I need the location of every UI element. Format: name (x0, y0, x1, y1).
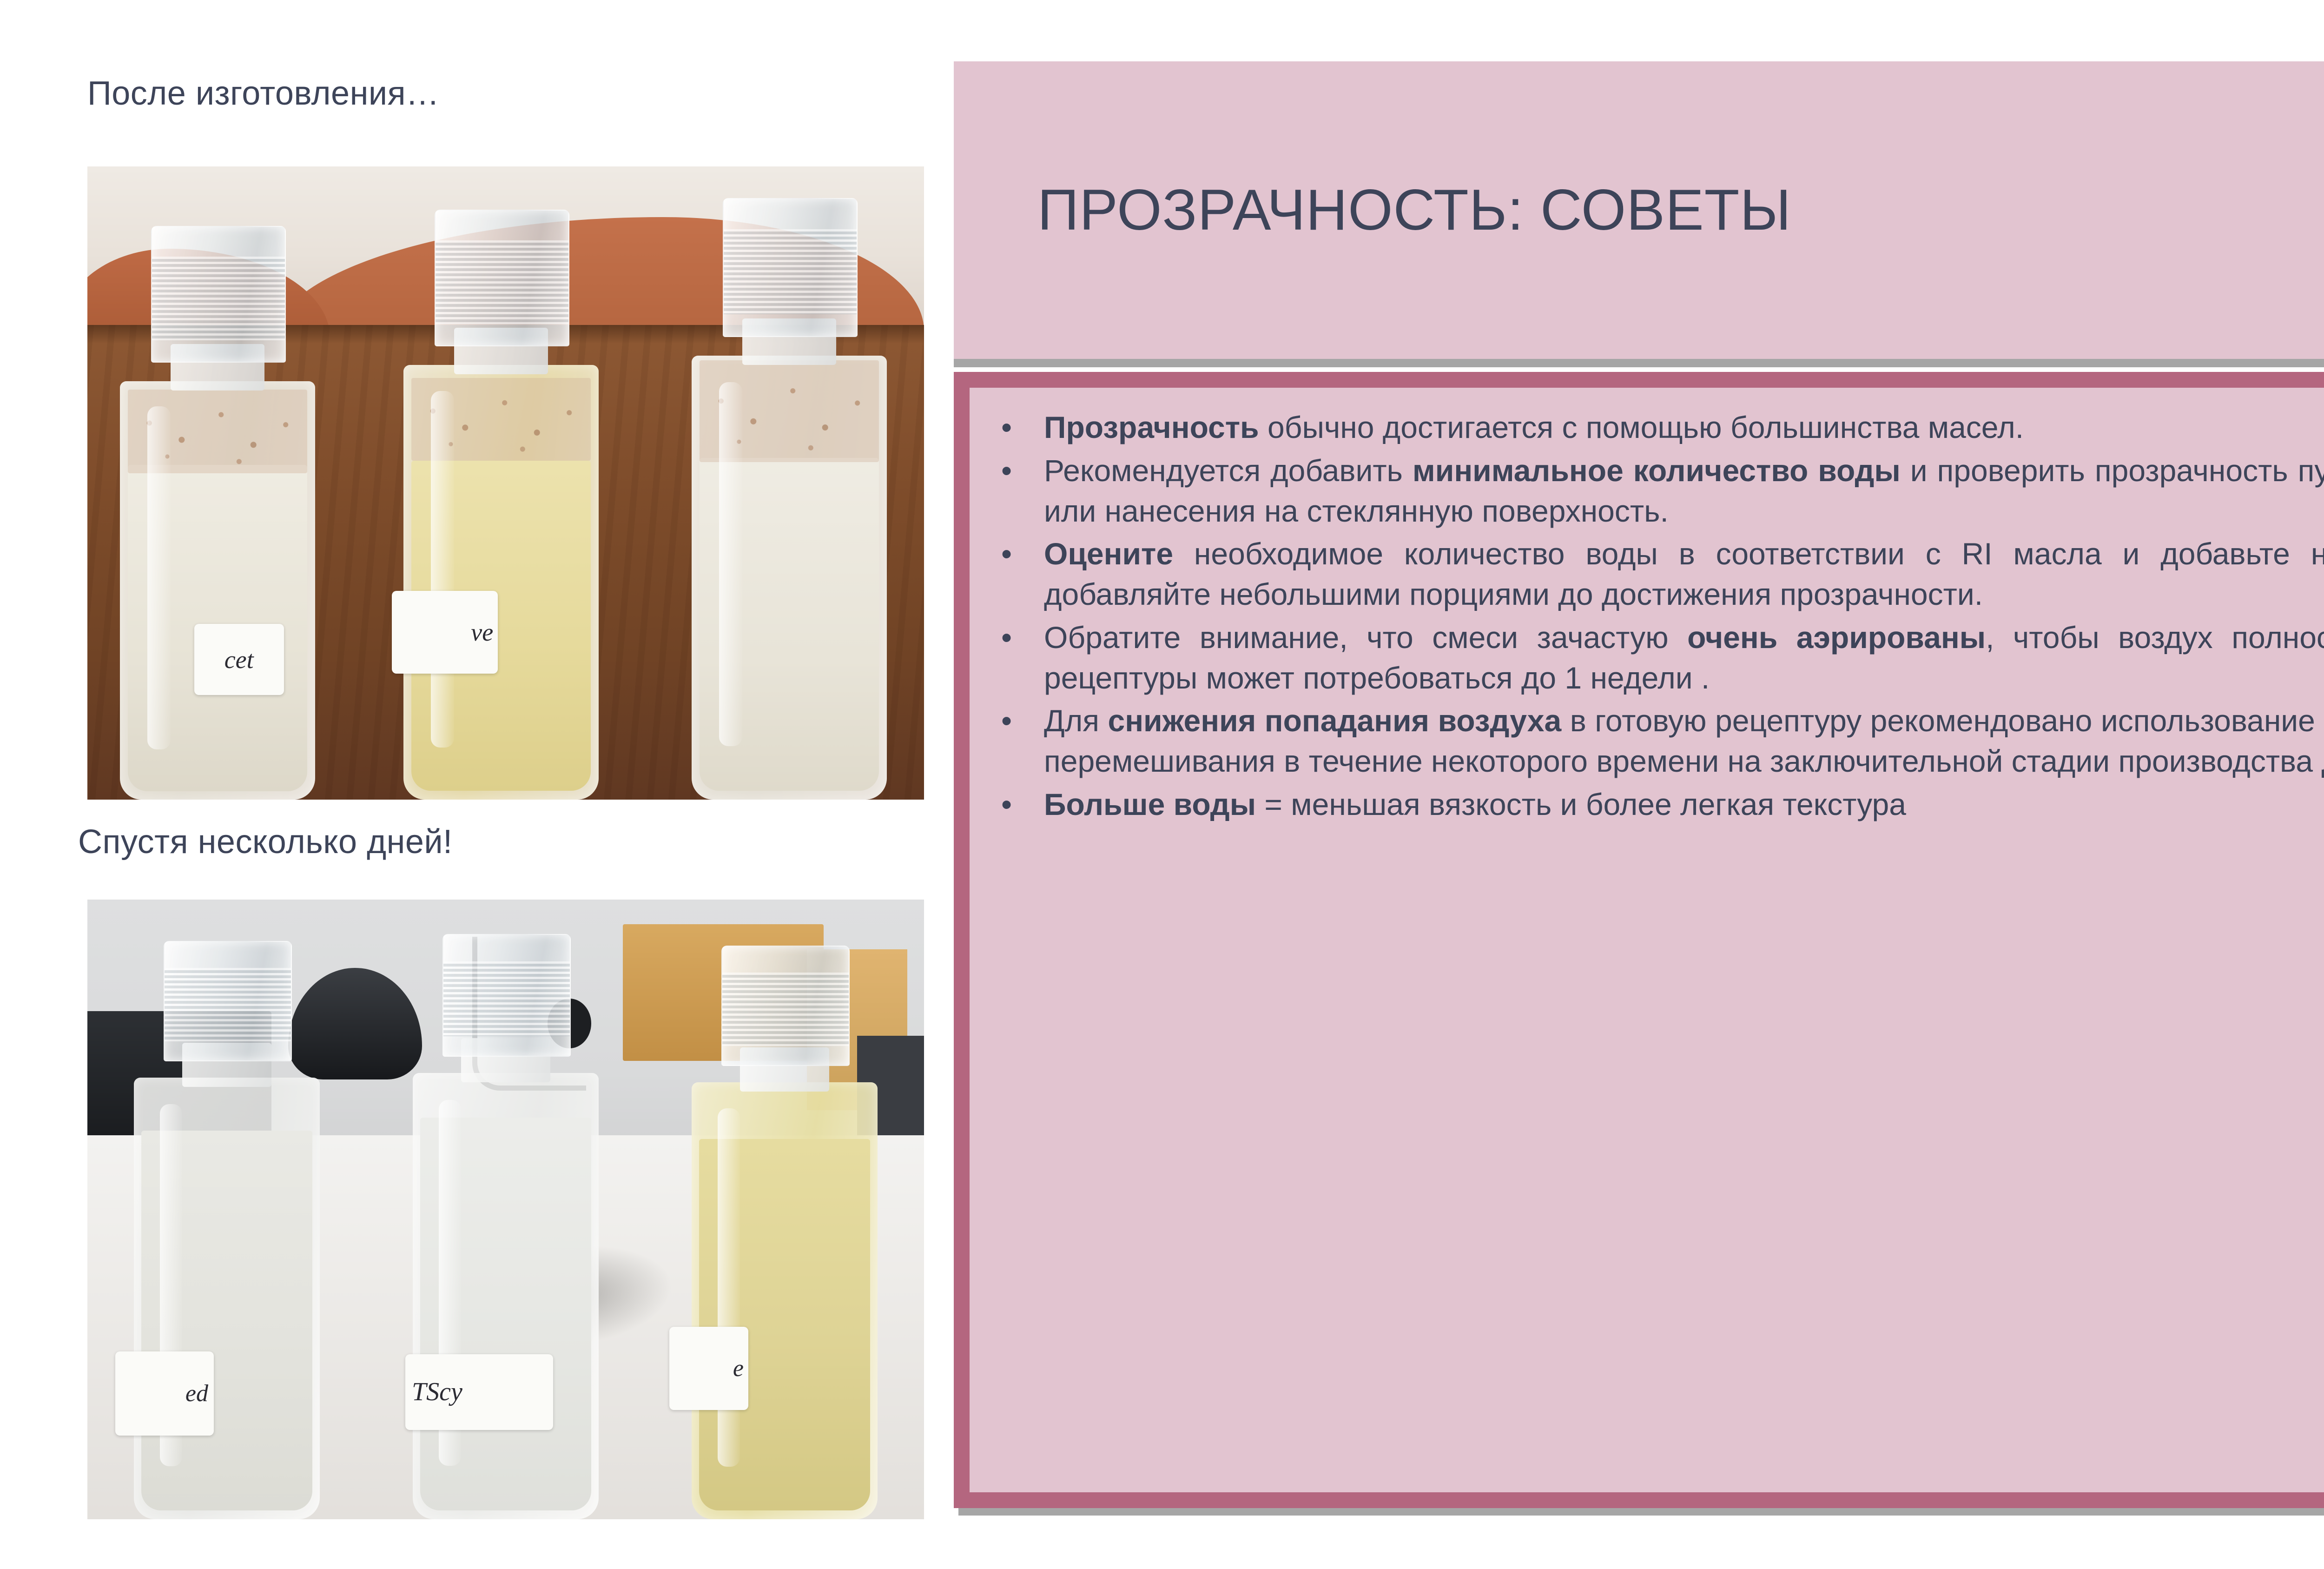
bottle-6-label: e (669, 1327, 748, 1410)
bullet-item: Для снижения попадания воздуха в готовую… (995, 701, 2324, 781)
bullet-item: Оцените необходимое количество воды в со… (995, 534, 2324, 615)
bullet-emphasis: минимальное количество воды (1413, 453, 1901, 488)
bottle-4-label: ed (115, 1351, 214, 1436)
caption-after-several-days: Спустя несколько дней! (78, 823, 453, 861)
bottle-5-cap-ridges (443, 961, 570, 1036)
bullet-text: Рекомендуется добавить (1044, 453, 1413, 488)
bottle-1: cet (120, 251, 315, 800)
bullet-emphasis: Больше воды (1044, 787, 1256, 821)
bullet-item: Прозрачность обычно достигается с помощь… (995, 407, 2324, 448)
bottle-1-label: cet (194, 624, 284, 695)
bottle-3-body (692, 356, 887, 800)
bottle-3 (692, 221, 887, 800)
bullet-text: Обратите внимание, что смеси зачастую (1044, 620, 1687, 655)
photo-scene-white-desk: ed TScy (87, 900, 924, 1519)
bottle-2-cap-ridges (436, 240, 568, 324)
body-panel-shadow (958, 1508, 2324, 1516)
bottle-2-label-text: ve (471, 618, 493, 647)
bottle-5-body: TScy (413, 1073, 599, 1519)
bottle-5: TScy (413, 936, 599, 1519)
bottle-4-cap-ridges (165, 968, 291, 1041)
page-title: ПРОЗРАЧНОСТЬ: СОВЕТЫ (1037, 177, 1791, 243)
photo-scene-wooden-table: cet ve (87, 166, 924, 800)
bottle-2-body: ve (403, 365, 599, 800)
bottle-1-highlight (147, 406, 171, 749)
bullet-text: обычно достигается с помощью большинства… (1259, 410, 2024, 444)
bottle-6-cap-ridges (722, 973, 849, 1046)
title-divider-rule (954, 359, 2324, 367)
bottle-6-label-text: e (733, 1355, 744, 1382)
bottle-3-cap-ridges (724, 229, 857, 314)
bottle-6-body: e (692, 1082, 878, 1519)
bottle-5-label: TScy (405, 1354, 553, 1430)
bottle-4-cap (164, 941, 292, 1061)
bullet-item: Обратите внимание, что смеси зачастую оч… (995, 617, 2324, 698)
bullet-list: Прозрачность обычно достигается с помощь… (995, 407, 2324, 825)
bottle-2: ve (403, 235, 599, 800)
left-media-column: После изготовления… cet (0, 0, 953, 1569)
bottle-6-cap (721, 946, 850, 1066)
bullet-emphasis: снижения попадания воздуха (1108, 703, 1561, 738)
slide-body-panel: Прозрачность обычно достигается с помощь… (954, 372, 2324, 1508)
caption-after-manufacture: После изготовления… (87, 74, 440, 113)
bottle-1-label-text: cet (224, 645, 254, 674)
bullet-item: Больше воды = меньшая вязкость и более л… (995, 784, 2324, 825)
bottle-6-highlight (718, 1108, 740, 1467)
bottle-4-label-text: ed (185, 1380, 208, 1407)
bottle-3-highlight (719, 382, 742, 746)
bullet-text: Для (1044, 703, 1108, 738)
bottle-6: e (692, 947, 878, 1519)
bullet-emphasis: Оцените (1044, 536, 1173, 571)
bottle-4: ed (134, 945, 320, 1519)
bullet-emphasis: Прозрачность (1044, 410, 1259, 444)
photo-bottles-fresh: cet ve (87, 166, 924, 800)
bullet-text: необходимое количество воды в соответств… (1044, 536, 2324, 611)
photo-bottles-after-days: ed TScy (87, 900, 924, 1519)
bottle-2-cap (435, 210, 569, 346)
slide-body-inner: Прозрачность обычно достигается с помощь… (970, 388, 2324, 1492)
slide-title-panel: ПРОЗРАЧНОСТЬ: СОВЕТЫ (954, 61, 2324, 359)
bottle-2-label: ve (392, 591, 498, 674)
bottle-1-cap (151, 226, 286, 363)
bullet-emphasis: очень аэрированы (1687, 620, 1986, 655)
bottle-4-body: ed (134, 1078, 320, 1519)
bottle-1-cap-ridges (152, 257, 285, 340)
bottle-5-cap (442, 934, 571, 1057)
bottle-1-body: cet (120, 381, 315, 800)
bullet-item: Рекомендуется добавить минимальное колич… (995, 450, 2324, 531)
bottle-2-highlight (431, 391, 454, 748)
bottle-3-cap (723, 198, 858, 337)
bullet-text: = меньшая вязкость и более легкая тексту… (1256, 787, 1906, 821)
bottle-5-label-text: TScy (412, 1377, 462, 1407)
